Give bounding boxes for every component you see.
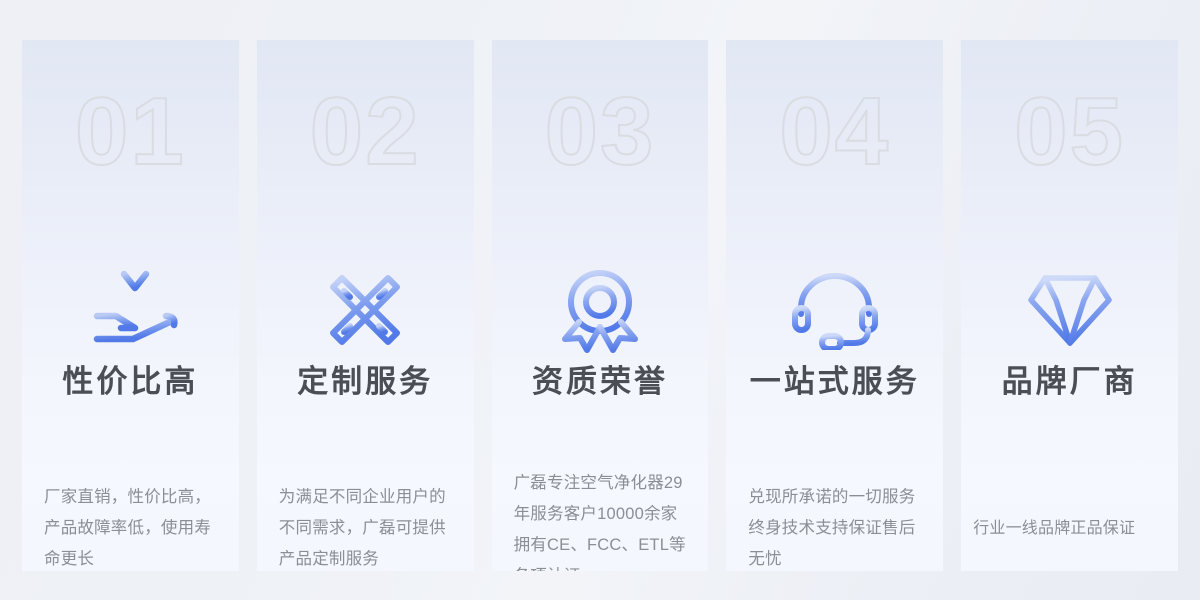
- card-description: 兑现所承诺的一切服务终身技术支持保证售后无忧: [748, 482, 921, 571]
- card-description: 行业一线品牌正品保证: [973, 513, 1166, 544]
- diamond-icon: [961, 262, 1178, 358]
- advantage-card[interactable]: 04: [726, 40, 943, 571]
- card-number-watermark: 03: [492, 84, 709, 180]
- hand-holding-yuan-icon: [22, 262, 239, 358]
- advantage-card[interactable]: 02: [257, 40, 474, 571]
- card-description: 厂家直销，性价比高，产品故障率低，使用寿命更长: [44, 482, 217, 571]
- card-title: 定制服务: [257, 362, 474, 402]
- award-medal-icon: [492, 262, 709, 358]
- headset-icon: [726, 262, 943, 358]
- card-description: 广磊专注空气净化器29年服务客户10000余家拥有CE、FCC、ETL等各项认证: [514, 468, 687, 571]
- advantage-card[interactable]: 05: [961, 40, 1178, 571]
- card-description: 为满足不同企业用户的不同需求，广磊可提供产品定制服务: [279, 482, 452, 571]
- card-number-watermark: 05: [961, 84, 1178, 180]
- card-number-watermark: 04: [726, 84, 943, 180]
- card-title: 品牌厂商: [961, 362, 1178, 402]
- advantage-card-list: 01: [22, 40, 1178, 571]
- card-title: 资质荣誉: [492, 362, 709, 402]
- card-number-watermark: 02: [257, 84, 474, 180]
- card-title: 性价比高: [22, 362, 239, 402]
- advantages-section: 01: [0, 0, 1200, 600]
- card-title: 一站式服务: [726, 362, 943, 402]
- advantage-card[interactable]: 01: [22, 40, 239, 571]
- advantage-card[interactable]: 03: [492, 40, 709, 571]
- pen-and-ruler-icon: [257, 262, 474, 358]
- card-number-watermark: 01: [22, 84, 239, 180]
